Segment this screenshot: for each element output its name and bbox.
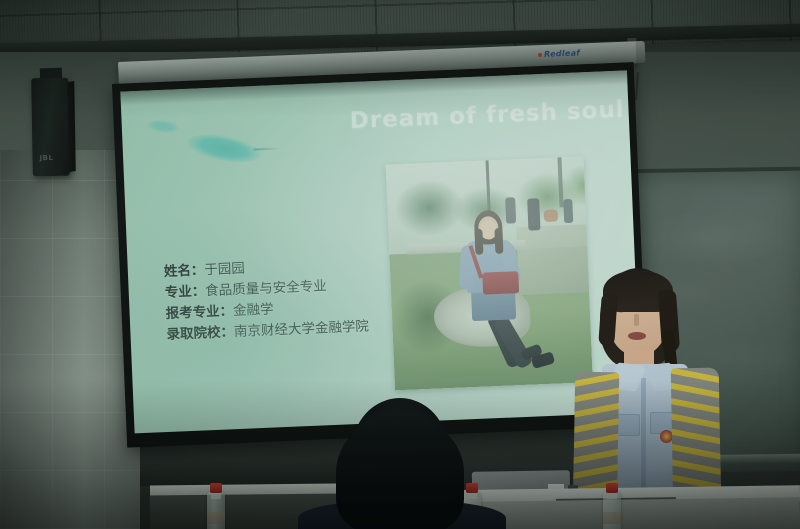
water-bottle xyxy=(207,492,225,529)
slide-value-name: 于园园 xyxy=(204,261,245,279)
feather-icon-small xyxy=(145,118,180,135)
feather-icon xyxy=(183,128,265,169)
bottle-label xyxy=(207,512,225,524)
screenshot-root: JBL Redleaf Dream of fresh soul xyxy=(0,0,800,529)
slide-label-applied-major: 报考专业： xyxy=(165,303,233,322)
bottle-neck xyxy=(467,492,477,499)
slide-text-block: 姓名：于园园 专业：食品质量与安全专业 报考专业：金融学 录取院校：南京财经大学… xyxy=(163,254,369,346)
bottle-neck xyxy=(607,492,617,499)
water-bottle xyxy=(603,492,621,529)
slide-title: Dream of fresh soul xyxy=(349,97,625,134)
wall-speaker: JBL xyxy=(31,78,70,177)
bottle-label xyxy=(603,512,621,524)
bottle-cap xyxy=(210,483,222,493)
presenter-nose xyxy=(634,314,639,326)
housing-end-cap xyxy=(636,41,646,63)
bottle-neck xyxy=(211,492,221,499)
presenter-mouth xyxy=(628,332,646,340)
housing-brand-logo: Redleaf xyxy=(538,48,580,59)
brand-dot-icon xyxy=(538,52,542,56)
slide-value-major: 食品质量与安全专业 xyxy=(205,278,327,299)
slide-label-school: 录取院校： xyxy=(166,324,234,343)
slide-label-name: 姓名： xyxy=(164,262,205,280)
audience-hair xyxy=(336,416,464,529)
presenter-shirt-placket xyxy=(641,378,646,496)
bottle-cap xyxy=(466,483,478,493)
slide-value-applied-major: 金融学 xyxy=(233,301,274,319)
slide-value-school: 南京财经大学金融学院 xyxy=(234,318,370,340)
slide-label-major: 专业： xyxy=(164,283,205,301)
bottle-cap xyxy=(606,483,618,493)
housing-brand-text: Redleaf xyxy=(544,48,580,58)
speaker-brand-label: JBL xyxy=(39,154,53,162)
